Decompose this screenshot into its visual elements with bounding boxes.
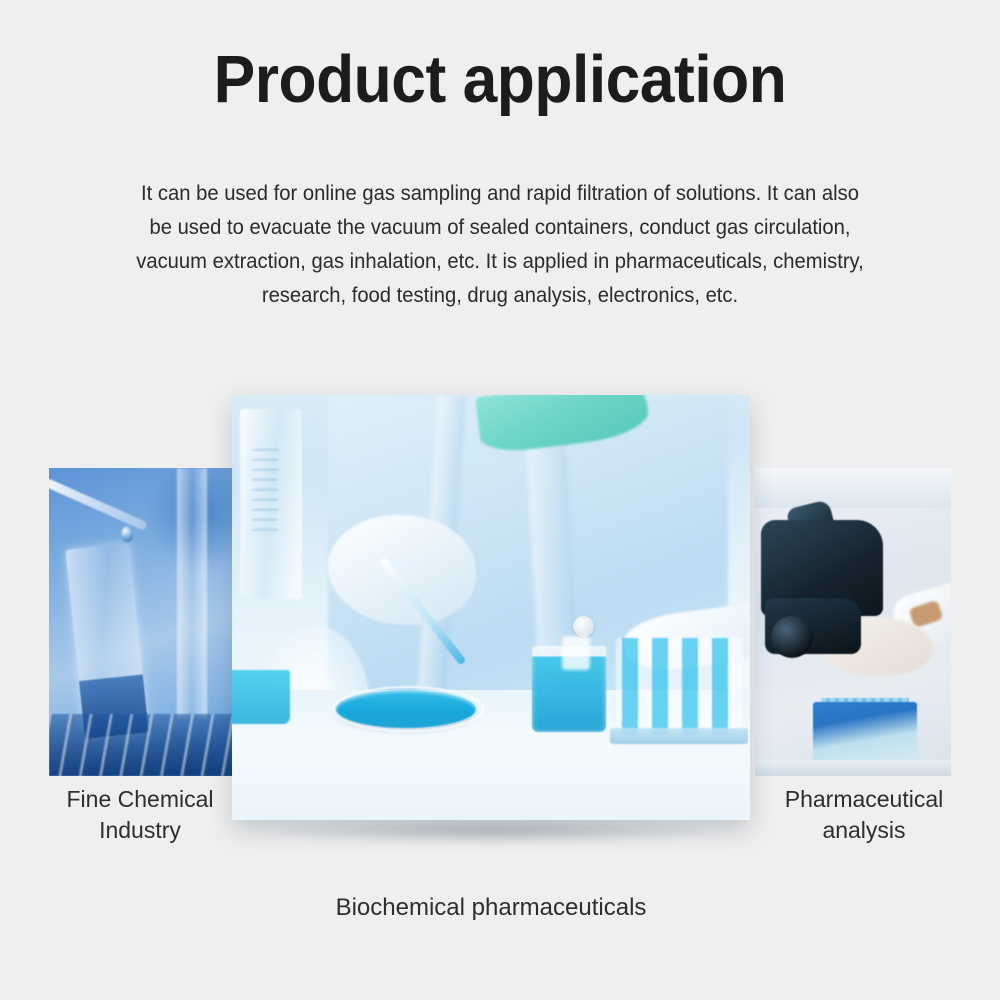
caption-fine-chemical-industry: Fine Chemical Industry <box>20 784 260 846</box>
photo-left-test-tube <box>65 543 149 739</box>
photo-left-secondary-tube <box>177 468 207 718</box>
photo-center-graduated-cylinder <box>240 409 302 599</box>
caption-right-line-2: analysis <box>744 815 984 846</box>
photo-left-liquid-drop <box>121 526 133 542</box>
photo-right-microscope-focus-knob <box>771 616 813 658</box>
caption-biochemical-pharmaceuticals: Biochemical pharmaceuticals <box>240 892 742 923</box>
photo-center-lab-coat-button <box>573 616 594 637</box>
center-photo-shadow <box>252 818 732 844</box>
photo-center-test-tubes <box>616 638 742 734</box>
caption-left-line-2: Industry <box>20 815 260 846</box>
caption-pharmaceutical-analysis: Pharmaceutical analysis <box>744 784 984 846</box>
photo-biochemical-pharmaceuticals <box>232 395 750 820</box>
photo-center-cylinder-scale-marks <box>252 449 278 535</box>
photo-right-bench <box>755 468 951 508</box>
photo-left-pipette <box>49 478 148 531</box>
photo-center-petri-dish-rim <box>332 686 484 732</box>
application-photo-gallery: Fine Chemical Industry Pharmaceutical an… <box>0 0 1000 1000</box>
photo-right-pipette-tip-rack <box>813 702 917 764</box>
caption-right-line-1: Pharmaceutical <box>744 784 984 815</box>
photo-center-beaker-left <box>232 670 290 724</box>
caption-left-line-1: Fine Chemical <box>20 784 260 815</box>
photo-right-shelf <box>755 760 951 776</box>
photo-center-test-tube-rack <box>610 728 748 744</box>
photo-center-glass-highlight <box>562 636 590 670</box>
photo-pharmaceutical-analysis <box>755 468 951 776</box>
